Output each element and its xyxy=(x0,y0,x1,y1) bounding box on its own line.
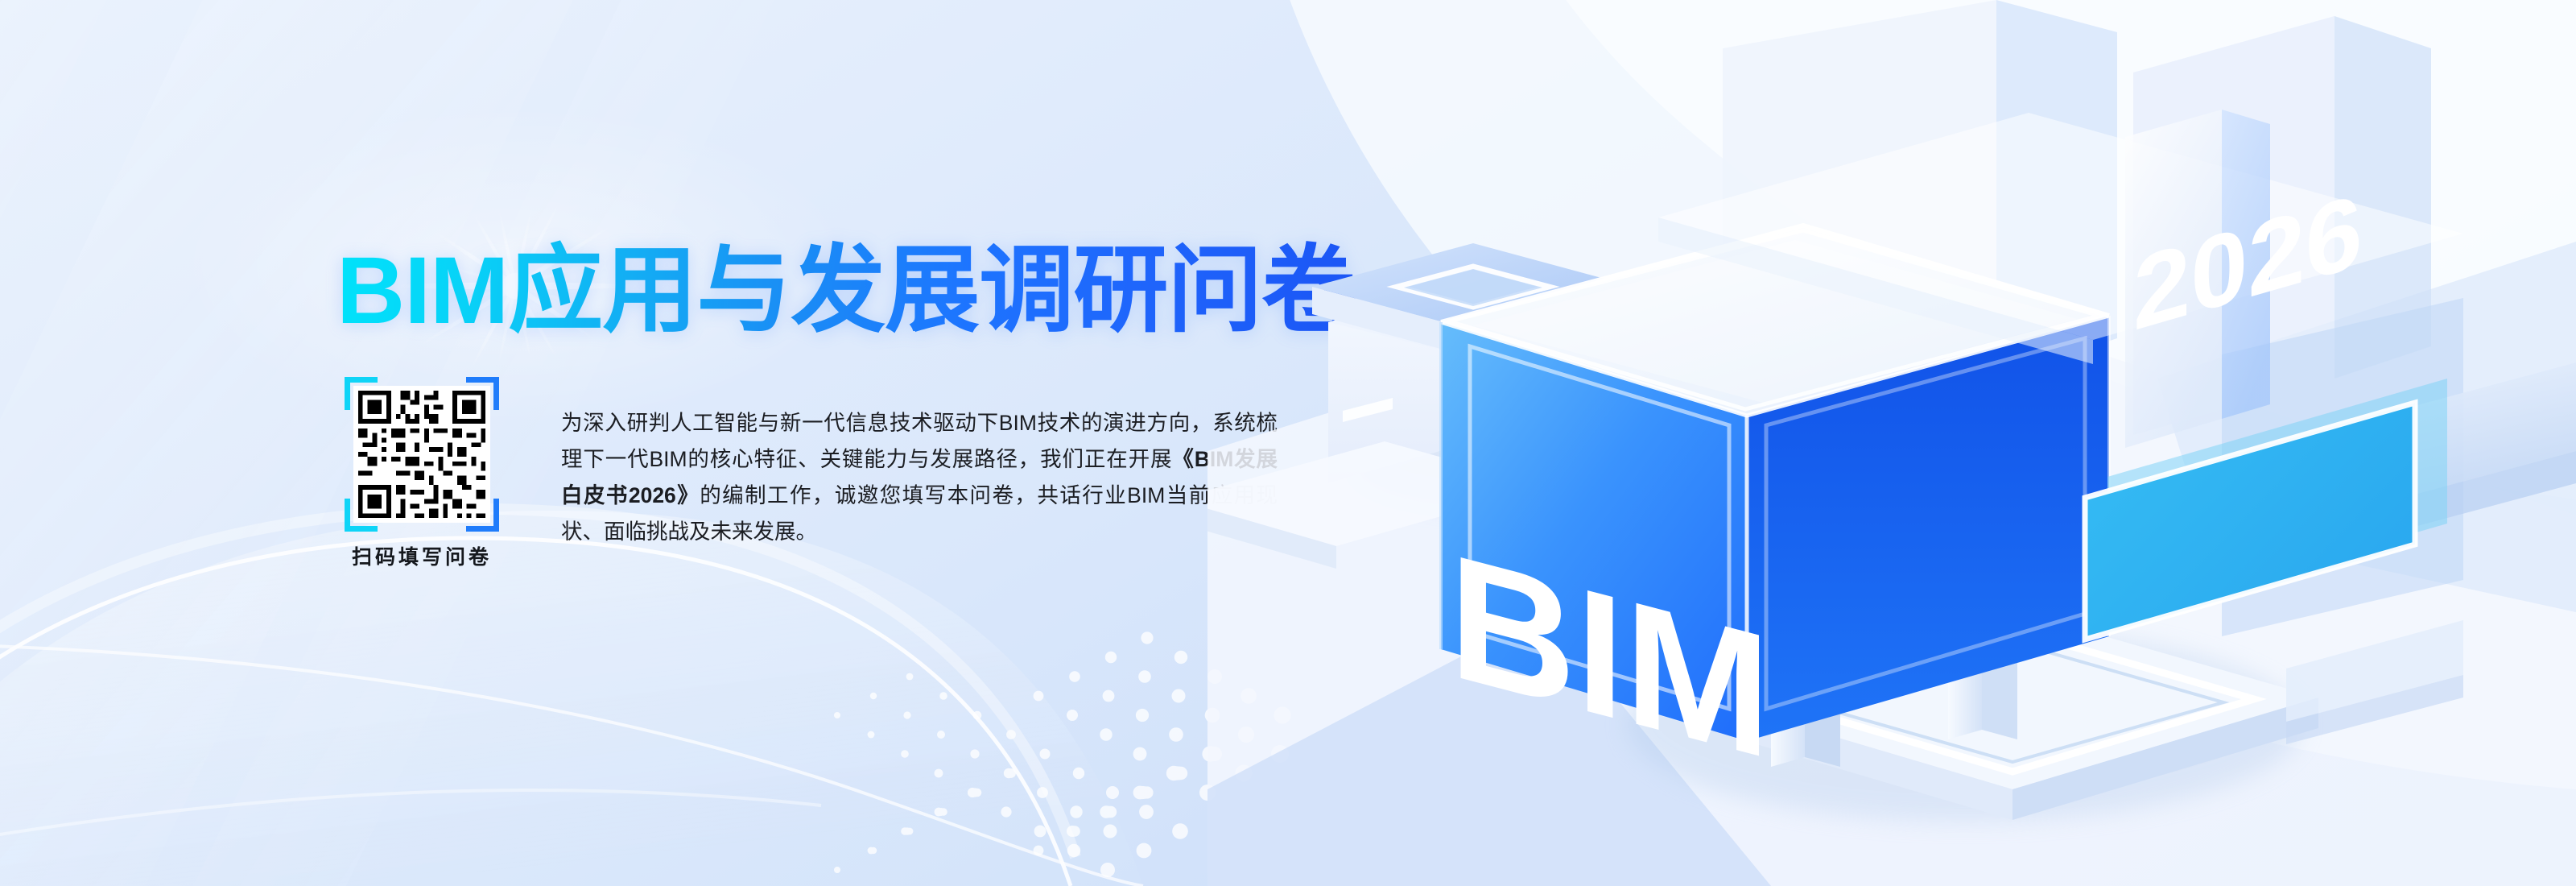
banner-content: BIM应用与发展调研问卷 xyxy=(0,0,1409,886)
desc-part-1: 为深入研判人工智能与新一代信息技术驱动下BIM技术的演进方向，系统梳理下一代BI… xyxy=(561,411,1278,471)
isometric-illustration: BIM 2026 xyxy=(1207,0,2576,886)
qr-code-icon[interactable] xyxy=(353,386,490,523)
banner-description: 为深入研判人工智能与新一代信息技术驱动下BIM技术的演进方向，系统梳理下一代BI… xyxy=(561,405,1278,550)
banner: BIM应用与发展调研问卷 xyxy=(0,0,2576,886)
qr-caption: 扫码填写问卷 xyxy=(345,541,499,570)
page-title: BIM应用与发展调研问卷 xyxy=(336,230,1356,351)
qr-block[interactable]: 扫码填写问卷 xyxy=(345,377,506,570)
page-title-wrapper: BIM应用与发展调研问卷 xyxy=(336,230,1356,351)
qr-frame xyxy=(345,377,499,532)
